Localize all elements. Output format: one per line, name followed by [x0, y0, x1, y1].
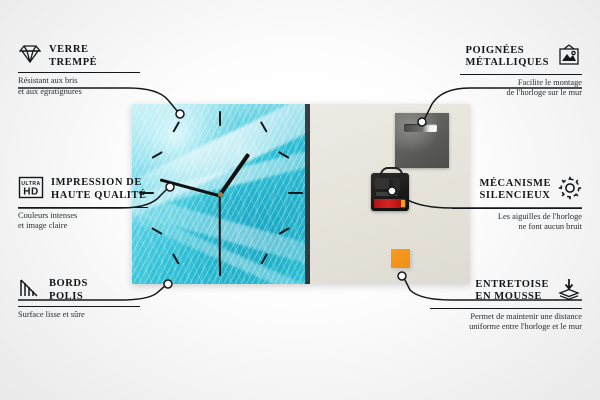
ultra-hd-icon: ultra HD [18, 176, 44, 204]
divider [430, 308, 582, 309]
callout-title: BORDS POLIS [49, 278, 88, 303]
callout-entretoise: ENTRETOISE EN MOUSSE Permet de maintenir… [430, 278, 582, 332]
battery [374, 199, 406, 208]
divider [18, 72, 140, 73]
hanger-slot [404, 124, 437, 132]
callout-title: POIGNÉES MÉTALLIQUES [466, 45, 549, 70]
divider [452, 208, 582, 209]
callout-bords-polis: BORDS POLIS Surface lisse et sûre [18, 278, 140, 321]
clock-hands-overlay [132, 104, 310, 284]
callout-title: VERRE TREMPÉ [49, 44, 97, 69]
minute-hand [160, 178, 221, 197]
foam-spacer-photo [391, 249, 410, 268]
divider [18, 306, 140, 307]
gear-icon [558, 176, 582, 205]
metal-hanger-photo [395, 113, 449, 168]
callout-verre-trempe: VERRE TREMPÉ Résistant aux bris et aux é… [18, 44, 140, 97]
callout-subtitle: Couleurs intenses et image claire [18, 211, 148, 232]
callout-title: IMPRESSION DE HAUTE QUALITÉ [51, 177, 147, 202]
callout-title: MÉCANISME SILENCIEUX [480, 178, 551, 203]
callout-impression: ultra HD IMPRESSION DE HAUTE QUALITÉ Cou… [18, 176, 148, 231]
callout-poignees: POIGNÉES MÉTALLIQUES Facilite le montage… [460, 44, 582, 98]
callout-subtitle: Les aiguilles de l'horloge ne font aucun… [452, 212, 582, 233]
callout-subtitle: Surface lisse et sûre [18, 310, 140, 320]
callout-subtitle: Permet de maintenir une distance uniform… [430, 312, 582, 333]
arrow-down-layers-icon [556, 278, 582, 305]
callout-title: ENTRETOISE EN MOUSSE [475, 279, 549, 304]
callout-mecanisme: MÉCANISME SILENCIEUX Les aiguilles de l'… [452, 176, 582, 232]
callout-subtitle: Facilite le montage de l'horloge sur le … [460, 78, 582, 99]
callout-subtitle: Résistant aux bris et aux égratignures [18, 76, 140, 97]
svg-text:HD: HD [23, 187, 39, 198]
divider [460, 74, 582, 75]
wall-frame-icon [556, 44, 582, 71]
hour-hand [218, 153, 250, 196]
polished-edge-icon [18, 278, 42, 303]
clock-center-pin [218, 192, 223, 197]
infographic-canvas: VERRE TREMPÉ Résistant aux bris et aux é… [0, 0, 600, 400]
second-hand [219, 195, 221, 267]
clock-mechanism-photo [371, 173, 409, 211]
diamond-icon [18, 44, 42, 69]
divider [18, 207, 148, 208]
